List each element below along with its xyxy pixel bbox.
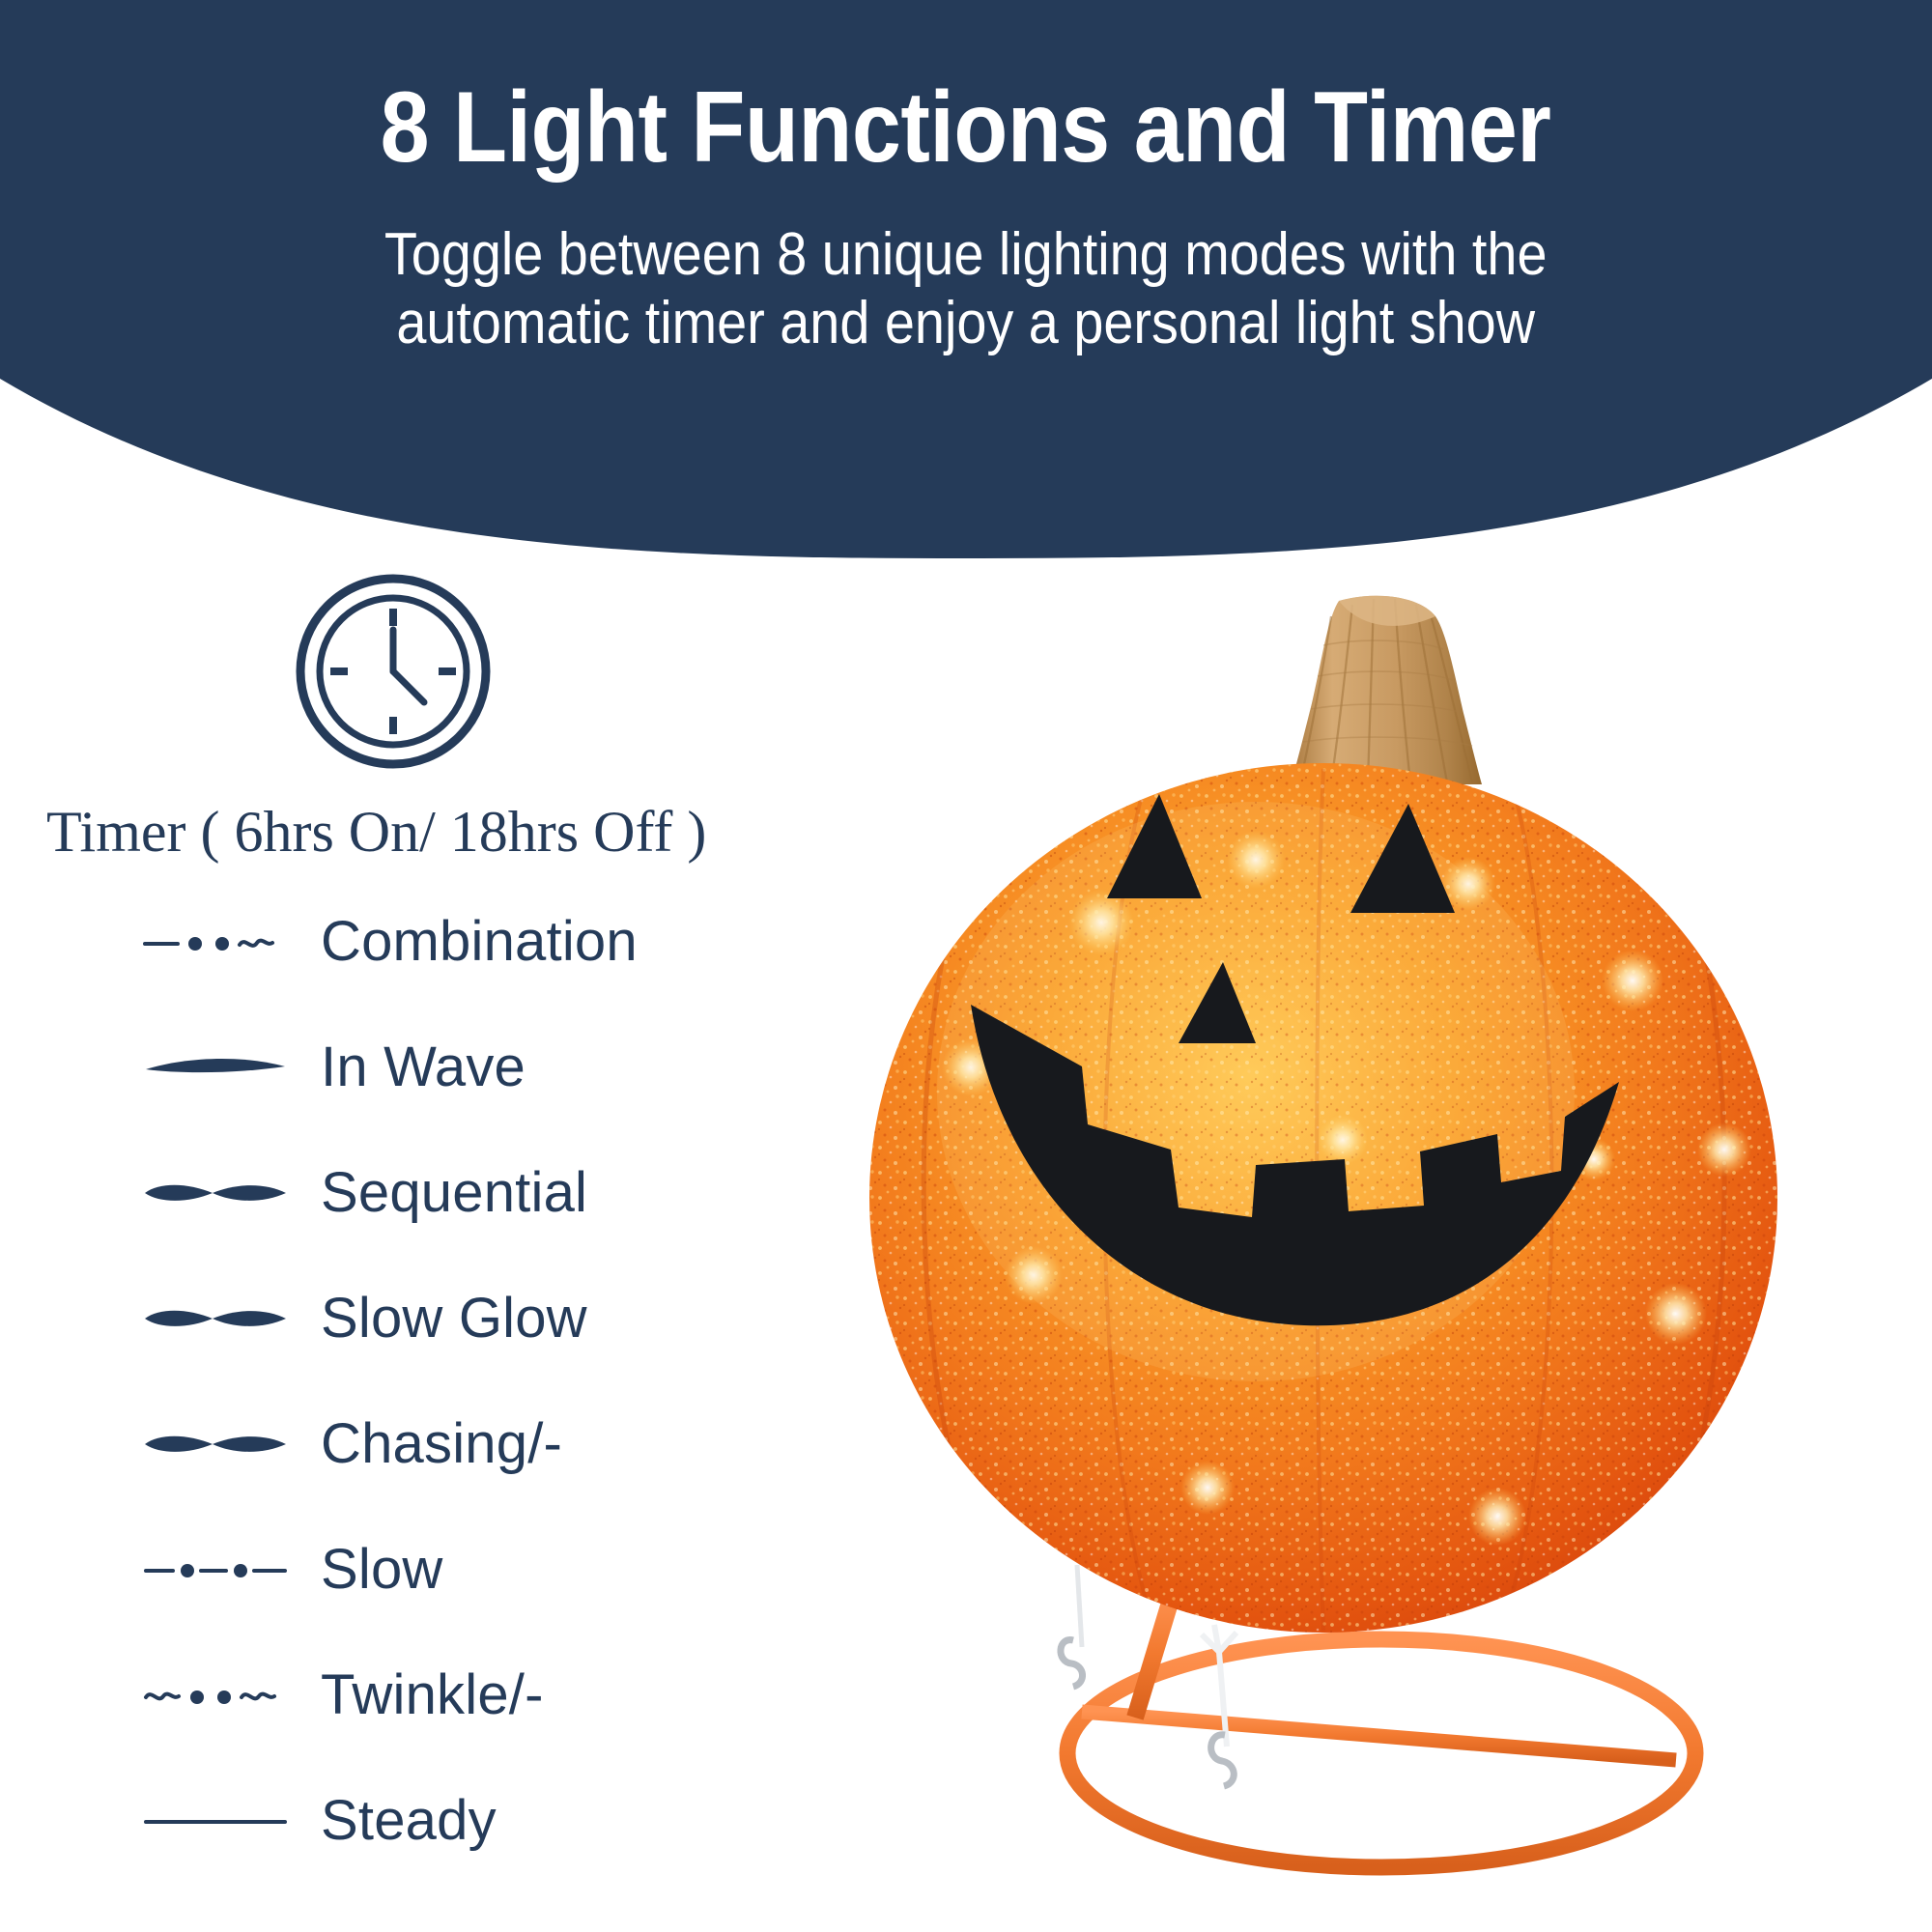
list-item-label: Slow Glow: [321, 1291, 587, 1347]
double-lens-icon: [140, 1415, 290, 1473]
light-function-list: Combination In Wave Sequential: [0, 879, 850, 1884]
list-item-label: In Wave: [321, 1039, 526, 1095]
stand-upright-post: [1135, 1590, 1174, 1718]
list-item[interactable]: Slow Glow: [0, 1256, 850, 1381]
list-item[interactable]: Chasing/-: [0, 1381, 850, 1507]
s-hook-left: [1061, 1640, 1083, 1687]
double-lens-icon: [140, 1164, 290, 1222]
list-item-label: Combination: [321, 914, 638, 970]
s-hook-center: [1211, 1735, 1235, 1786]
list-item[interactable]: Twinkle/-: [0, 1633, 850, 1758]
wave-dot-dot-wave-icon: [140, 1666, 290, 1724]
list-item-label: Twinkle/-: [321, 1667, 544, 1723]
list-item-label: Slow: [321, 1542, 443, 1598]
header-banner: [0, 0, 1932, 560]
features-column: Timer ( 6hrs On/ 18hrs Off ) Combination…: [0, 570, 850, 1932]
product-image: [802, 541, 1932, 1932]
list-item[interactable]: Combination: [0, 879, 850, 1005]
stand-crossbar: [1082, 1712, 1676, 1760]
double-lens-icon: [140, 1290, 290, 1348]
list-item-label: Chasing/-: [321, 1416, 562, 1472]
list-item-label: Sequential: [321, 1165, 587, 1221]
header-banner-shape: [0, 0, 1932, 560]
jack-o-lantern-illustration: [802, 541, 1932, 1932]
list-item[interactable]: Slow: [0, 1507, 850, 1633]
list-item[interactable]: In Wave: [0, 1005, 850, 1130]
list-item[interactable]: Steady: [0, 1758, 850, 1884]
list-item[interactable]: Sequential: [0, 1130, 850, 1256]
hook-wire-left: [1077, 1565, 1082, 1647]
timer-label: Timer ( 6hrs On/ 18hrs Off ): [46, 800, 819, 864]
clock-icon-wrap: [292, 570, 495, 773]
single-taper-lens-icon: [140, 1038, 290, 1096]
dash-dot-dash-dot-dash-icon: [140, 1541, 290, 1599]
dash-dot-dot-wave-icon: [140, 913, 290, 971]
clock-icon: [292, 570, 495, 773]
list-item-label: Steady: [321, 1793, 497, 1849]
solid-line-icon: [140, 1792, 290, 1850]
pumpkin-stem: [1291, 596, 1482, 784]
